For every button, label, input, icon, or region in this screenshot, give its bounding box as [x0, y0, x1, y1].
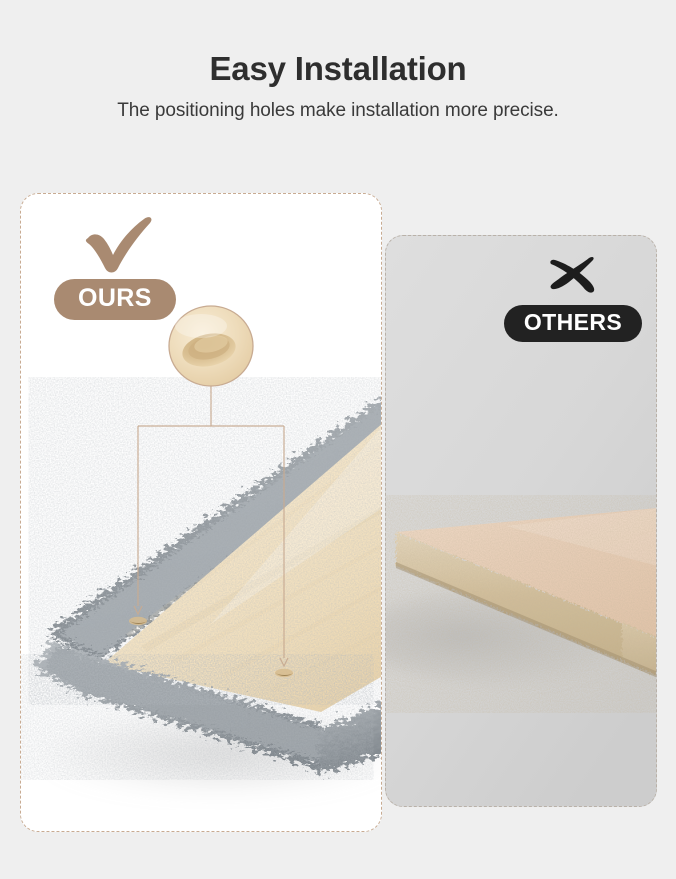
others-badge-group: OTHERS	[498, 254, 648, 342]
infographic-stage: Easy Installation The positioning holes …	[0, 0, 676, 879]
cross-icon	[498, 254, 648, 305]
page-title: Easy Installation	[0, 0, 676, 87]
header: Easy Installation The positioning holes …	[0, 0, 676, 122]
ours-badge-group: OURS	[54, 216, 244, 320]
others-comparison-card: OTHERS	[385, 235, 657, 807]
others-badge: OTHERS	[504, 305, 642, 342]
positioning-hole-2	[275, 669, 293, 677]
ours-comparison-card: OURS	[20, 193, 382, 832]
ours-badge: OURS	[54, 279, 176, 320]
page-subtitle: The positioning holes make installation …	[0, 87, 676, 122]
checkmark-icon	[78, 216, 244, 279]
positioning-hole-1	[129, 617, 147, 625]
